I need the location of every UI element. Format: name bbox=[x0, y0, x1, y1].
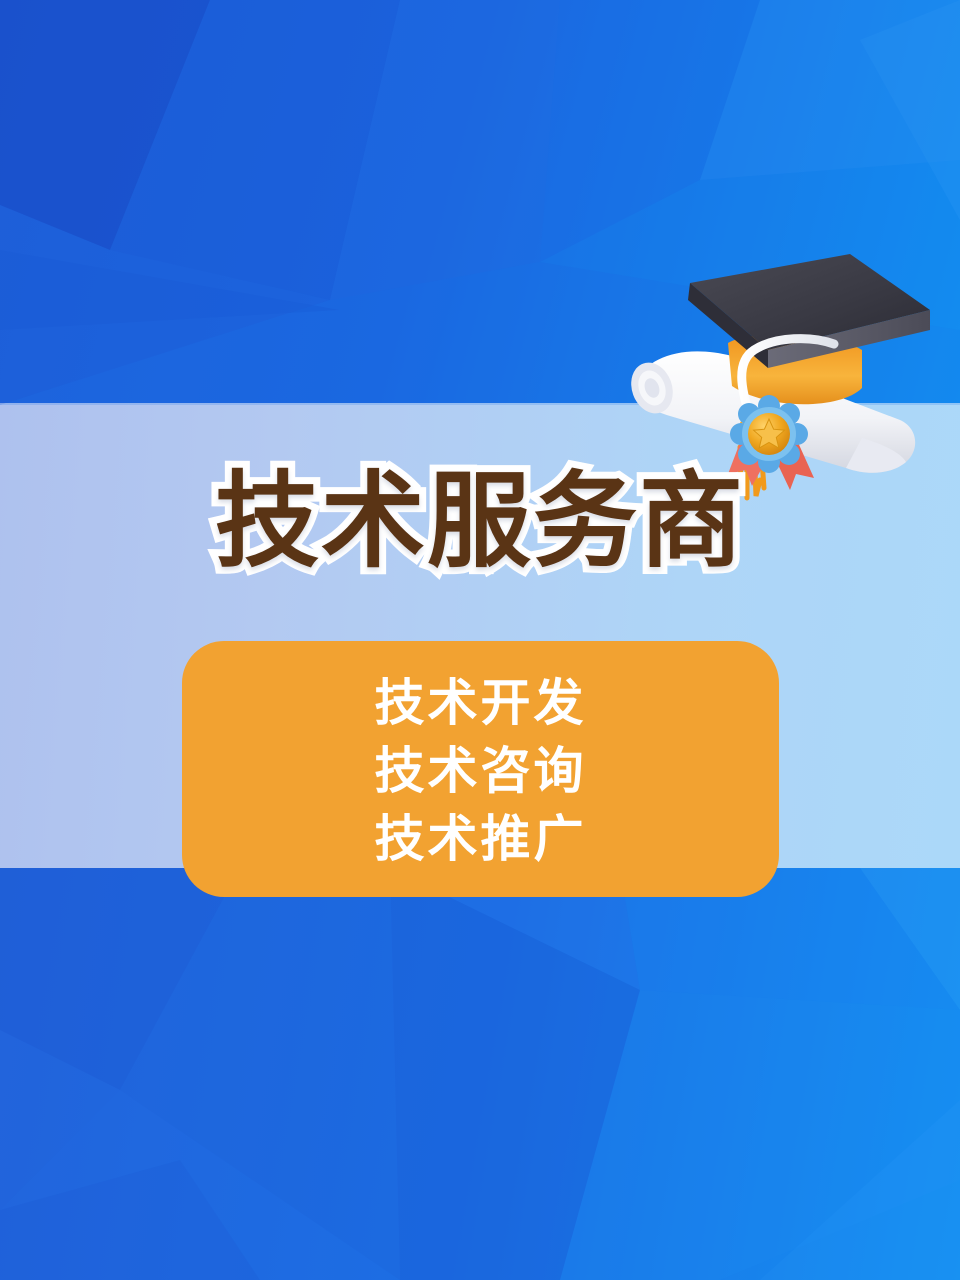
poster-canvas: 技术服务商 技术开发 技术咨询 技术推广 bbox=[0, 0, 960, 1280]
background-layer bbox=[0, 0, 960, 1280]
background-bottom-blue bbox=[0, 868, 960, 1280]
services-card: 技术开发 技术咨询 技术推广 bbox=[182, 641, 779, 897]
page-title: 技术服务商 bbox=[0, 466, 960, 578]
service-item: 技术开发 bbox=[375, 669, 587, 737]
service-item: 技术推广 bbox=[375, 805, 587, 873]
mortarboard-shape bbox=[688, 254, 930, 368]
service-item: 技术咨询 bbox=[375, 737, 587, 805]
